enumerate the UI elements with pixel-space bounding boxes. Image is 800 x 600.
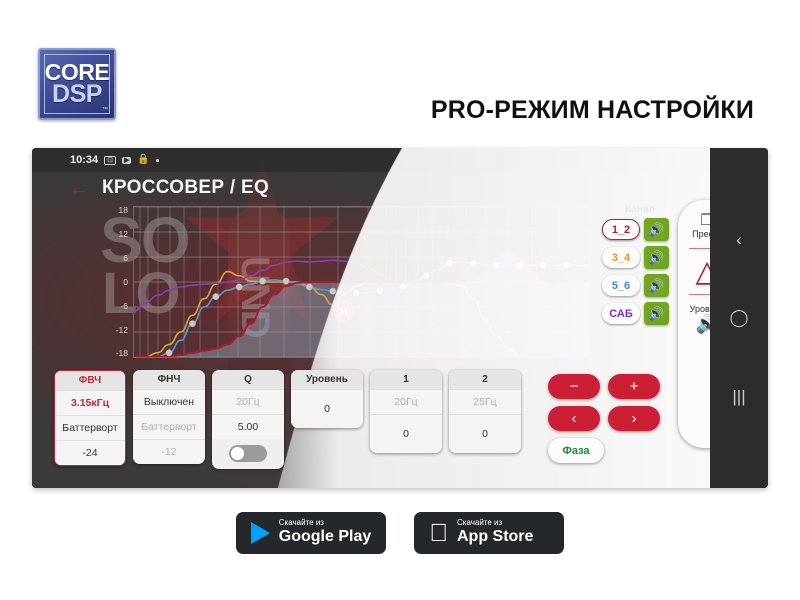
lock-icon: 🔒 (137, 155, 149, 165)
app-header: ← КРОССОВЕР / EQ (32, 172, 710, 204)
phase-button[interactable]: Фаза (548, 438, 604, 463)
speaker-icon[interactable]: 🔊 (644, 302, 669, 325)
tablet-device: SO LO UND 10:34 ⊡ ▶ 🔒 ← КРОССОВЕР / EQ 1… (32, 148, 768, 488)
chart-svg: H (134, 207, 590, 357)
card-header: 2 (449, 370, 521, 389)
increment-button[interactable]: + (608, 374, 660, 399)
divider (689, 294, 710, 295)
logo-inner: CORE DSP ™ (44, 54, 110, 114)
speaker-icon: 🔊 (696, 315, 710, 333)
card-level[interactable]: Уровень 0 (291, 370, 363, 428)
page-title: PRO-РЕЖИМ НАСТРОЙКИ (431, 96, 754, 125)
q-toggle-switch[interactable] (229, 445, 267, 462)
card-header: Уровень (291, 370, 363, 389)
card-hpf[interactable]: ФВЧ 3.15кГц Баттерворт -24 (54, 370, 126, 466)
app-side-panel: ❐ Пресет △ Уровень 🔊 (678, 200, 710, 448)
channel-label: 3_4 (612, 252, 630, 264)
card-header: ФНЧ (133, 370, 205, 389)
youtube-icon: ▶ (122, 157, 131, 164)
level-button[interactable]: Уровень 🔊 (678, 299, 710, 338)
chart-y-axis: 18 12 6 0 -6 -12 -18 (102, 206, 128, 358)
card-value-frequency[interactable]: 25Гц (449, 389, 521, 414)
back-arrow-icon[interactable]: ← (68, 177, 90, 199)
y-tick: 6 (123, 254, 128, 263)
dot-icon (156, 159, 159, 162)
nav-recents-icon[interactable]: ||| (732, 388, 745, 405)
eq-chart[interactable]: 18 12 6 0 -6 -12 -18 H (102, 206, 590, 358)
app-screen-title: КРОССОВЕР / EQ (102, 177, 269, 199)
status-time: 10:34 (70, 154, 98, 166)
nav-back-icon[interactable]: ‹ (736, 231, 742, 248)
screenshot-icon: ⊡ (104, 156, 116, 165)
card-value-frequency[interactable]: 20Гц (370, 389, 442, 414)
channel-selector: Канал 1_2 🔊 3_4 🔊 5_6 (602, 204, 678, 330)
card-header: 1 (370, 370, 442, 389)
card-value-gain[interactable]: 0 (449, 414, 521, 453)
store-badges: Скачайте из Google Play  Скачайте из Ap… (0, 512, 800, 554)
card-header: Q (212, 370, 284, 389)
card-value-gain[interactable]: 0 (370, 414, 442, 453)
channel-pill-1-2[interactable]: 1_2 (602, 219, 640, 240)
poster-root: CORE DSP ™ PRO-РЕЖИМ НАСТРОЙКИ SO LO UND… (0, 0, 800, 600)
card-value-frequency[interactable]: 20Гц (212, 389, 284, 414)
channel-row-sub[interactable]: САБ 🔊 (602, 302, 678, 325)
card-q[interactable]: Q 20Гц 5.00 (212, 370, 284, 469)
level-label: Уровень (690, 304, 710, 314)
channel-row-5-6[interactable]: 5_6 🔊 (602, 274, 678, 297)
android-nav-bar: ‹ ◯ ||| (710, 148, 768, 488)
svg-text:H: H (340, 307, 347, 318)
google-play-badge[interactable]: Скачайте из Google Play (236, 512, 386, 554)
nav-home-icon[interactable]: ◯ (729, 309, 748, 326)
card-value-q[interactable]: 5.00 (212, 414, 284, 439)
next-button[interactable]: › (608, 406, 660, 431)
channel-label: 5_6 (612, 280, 630, 292)
decrement-button[interactable]: − (548, 374, 600, 399)
speaker-icon[interactable]: 🔊 (644, 274, 669, 297)
action-buttons: − + ‹ › Фаза (548, 374, 668, 463)
channel-group-label: Канал (602, 204, 678, 215)
parameter-cards: ФВЧ 3.15кГц Баттерворт -24 ФНЧ Выключен … (54, 370, 521, 469)
delta-button[interactable]: △ (678, 253, 710, 290)
card-value-filter-type[interactable]: Баттерворт (55, 415, 125, 440)
speaker-icon[interactable]: 🔊 (644, 218, 669, 241)
card-value-level[interactable]: 0 (291, 389, 363, 428)
channel-pill-3-4[interactable]: 3_4 (602, 247, 640, 268)
channel-label: САБ (609, 308, 633, 320)
toggle-knob (231, 447, 244, 460)
y-tick: 18 (119, 206, 128, 215)
card-eq-band-2[interactable]: 2 25Гц 0 (449, 370, 521, 453)
preset-button[interactable]: ❐ Пресет (678, 208, 710, 244)
card-lpf[interactable]: ФНЧ Выключен Баттерворт -12 (133, 370, 205, 464)
chart-plot-area[interactable]: H (133, 206, 590, 358)
core-dsp-logo: CORE DSP ™ (38, 48, 116, 120)
y-tick: 12 (119, 230, 128, 239)
y-tick: -12 (116, 326, 128, 335)
badge-small-text: Скачайте из (279, 519, 371, 528)
apple-icon:  (429, 521, 448, 546)
tablet-screen: SO LO UND 10:34 ⊡ ▶ 🔒 ← КРОССОВЕР / EQ 1… (32, 148, 710, 488)
divider (689, 248, 710, 249)
channel-row-3-4[interactable]: 3_4 🔊 (602, 246, 678, 269)
badge-large-text: App Store (457, 528, 533, 546)
channel-pill-sub[interactable]: САБ (602, 303, 640, 324)
y-tick: 0 (123, 278, 128, 287)
card-value-frequency[interactable]: 3.15кГц (55, 390, 125, 415)
google-play-icon (251, 522, 270, 544)
logo-dsp-text: DSP (52, 83, 102, 106)
card-eq-band-1[interactable]: 1 20Гц 0 (370, 370, 442, 453)
badge-small-text: Скачайте из (457, 519, 533, 528)
channel-pill-5-6[interactable]: 5_6 (602, 275, 640, 296)
card-value-frequency[interactable]: Выключен (133, 389, 205, 414)
y-tick: -18 (116, 349, 128, 358)
speaker-icon[interactable]: 🔊 (644, 246, 669, 269)
channel-label: 1_2 (612, 224, 630, 236)
badge-large-text: Google Play (279, 528, 371, 546)
app-store-badge[interactable]:  Скачайте из App Store (414, 512, 564, 554)
y-tick: -6 (120, 302, 128, 311)
card-header: ФВЧ (55, 371, 125, 390)
card-value-filter-type[interactable]: Баттерворт (133, 414, 205, 439)
card-value-slope[interactable]: -24 (55, 440, 125, 465)
logo-trademark: ™ (102, 108, 108, 114)
channel-row-1-2[interactable]: 1_2 🔊 (602, 218, 678, 241)
previous-button[interactable]: ‹ (548, 406, 600, 431)
copy-icon: ❐ (700, 213, 710, 228)
status-bar: 10:34 ⊡ ▶ 🔒 (32, 148, 710, 172)
triangle-icon: △ (695, 258, 710, 285)
preset-label: Пресет (692, 229, 710, 239)
card-value-slope[interactable]: -12 (133, 439, 205, 464)
